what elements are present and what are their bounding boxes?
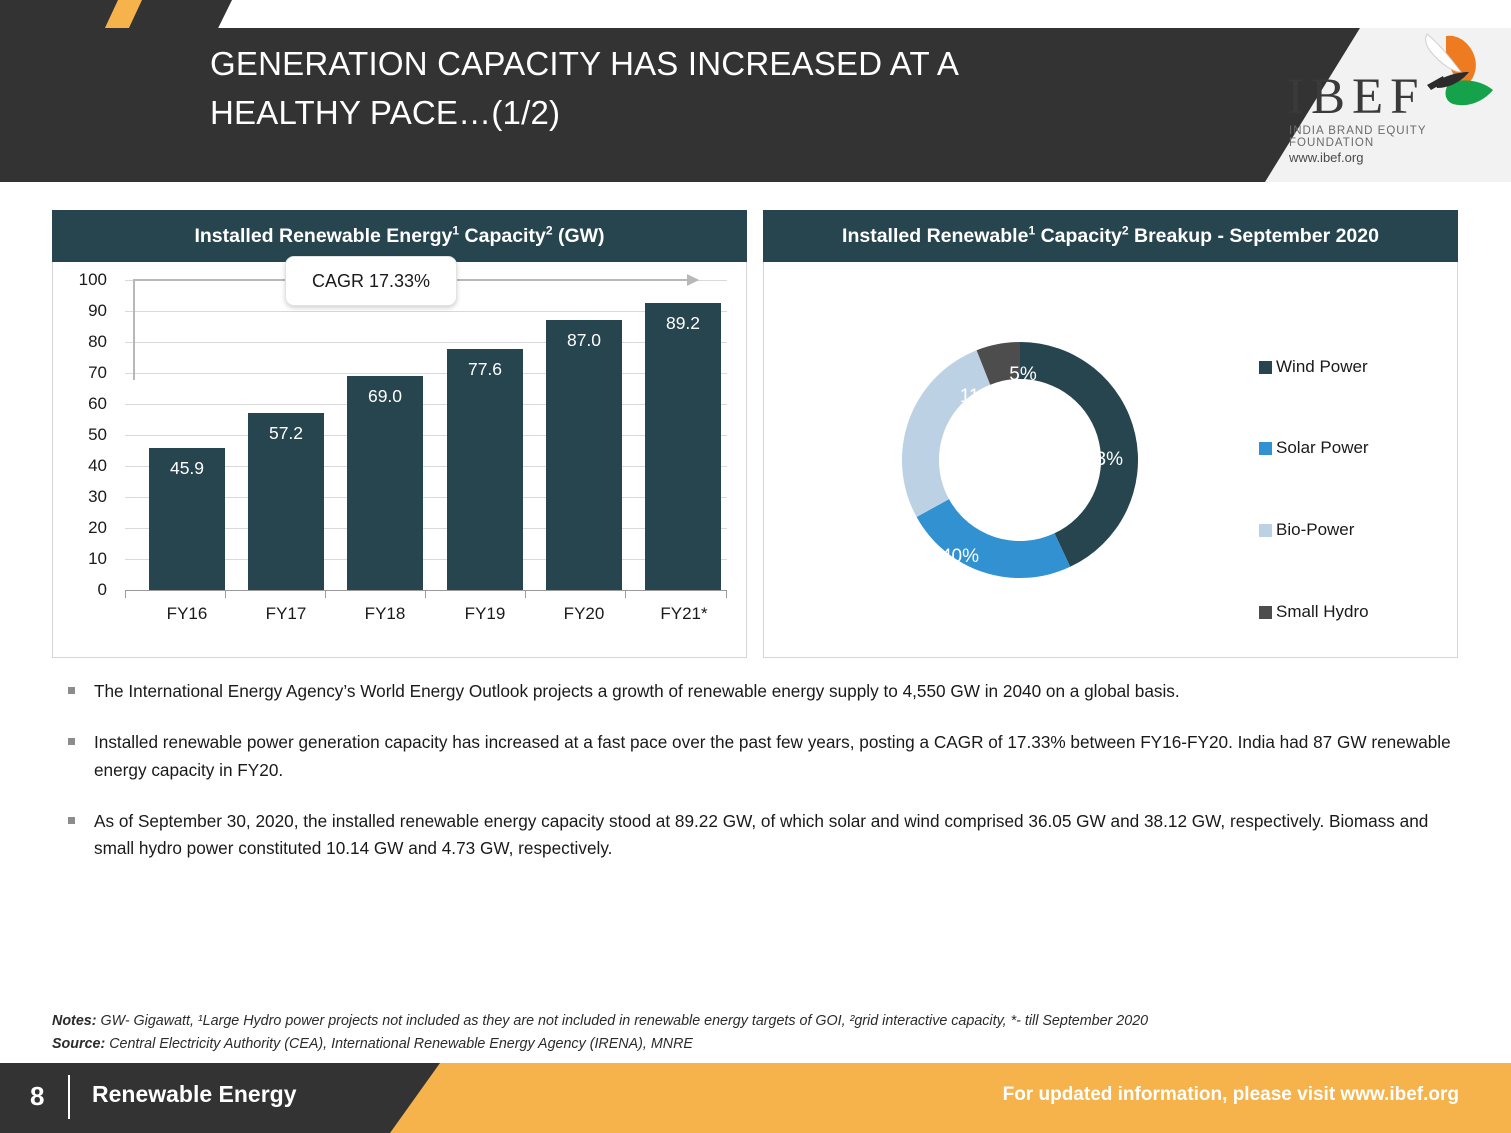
- y-tick-60: 60: [65, 394, 107, 414]
- donut-chart-body: 43% 40% 11% 5% Wind Power Solar Power Bi…: [763, 262, 1458, 658]
- legend-item-bio-power[interactable]: Bio-Power: [1259, 520, 1354, 540]
- y-tick-50: 50: [65, 425, 107, 445]
- bar-value-fy19: 77.6: [447, 359, 523, 380]
- x-tick-1: [225, 591, 226, 598]
- gridline-70: [125, 373, 727, 374]
- y-tick-30: 30: [65, 487, 107, 507]
- bar-fy21[interactable]: [645, 303, 721, 590]
- donut-chart: 43% 40% 11% 5%: [860, 300, 1180, 620]
- legend-swatch-solar-icon: [1259, 442, 1272, 455]
- bar-fy19[interactable]: [447, 349, 523, 590]
- legend-label-solar: Solar Power: [1276, 438, 1369, 458]
- source-line: Source: Central Electricity Authority (C…: [52, 1033, 1472, 1056]
- legend-swatch-bio-icon: [1259, 524, 1272, 537]
- legend-label-bio: Bio-Power: [1276, 520, 1354, 540]
- gridline-80: [125, 342, 727, 343]
- bar-value-fy17: 57.2: [248, 423, 324, 444]
- bar-chart-title: Installed Renewable Energy1 Capacity2 (G…: [194, 225, 604, 248]
- bar-value-fy18: 69.0: [347, 386, 423, 407]
- notes-block: Notes: GW- Gigawatt, ¹Large Hydro power …: [52, 1010, 1472, 1056]
- x-label-fy17: FY17: [266, 604, 307, 624]
- donut-slice-solar: [917, 499, 1071, 578]
- legend-label-small-hydro: Small Hydro: [1276, 602, 1369, 622]
- y-tick-70: 70: [65, 363, 107, 383]
- page-number: 8: [30, 1081, 44, 1112]
- y-tick-90: 90: [65, 301, 107, 321]
- x-tick-2: [325, 591, 326, 598]
- donut-label-small-hydro: 5%: [1009, 364, 1036, 386]
- gridline-50: [125, 435, 727, 436]
- bar-value-fy20: 87.0: [546, 330, 622, 351]
- notes-label: Notes:: [52, 1013, 96, 1029]
- legend-label-wind: Wind Power: [1276, 357, 1368, 377]
- donut-chart-panel-header: Installed Renewable1 Capacity2 Breakup -…: [763, 210, 1458, 262]
- source-label: Source:: [52, 1036, 105, 1052]
- notes-text: GW- Gigawatt, ¹Large Hydro power project…: [96, 1013, 1148, 1029]
- slide-footer: 8 Renewable Energy For updated informati…: [0, 1063, 1511, 1133]
- legend-swatch-wind-icon: [1259, 361, 1272, 374]
- cagr-leader-line: [133, 280, 135, 380]
- bar-chart-panel-header: Installed Renewable Energy1 Capacity2 (G…: [52, 210, 747, 262]
- footer-section-title: Renewable Energy: [92, 1081, 297, 1108]
- cagr-annotation: CAGR 17.33%: [285, 256, 457, 306]
- y-tick-20: 20: [65, 518, 107, 538]
- x-label-fy16: FY16: [167, 604, 208, 624]
- legend-item-small-hydro[interactable]: Small Hydro: [1259, 602, 1369, 622]
- list-item: The International Energy Agency’s World …: [62, 678, 1462, 706]
- x-label-fy20: FY20: [564, 604, 605, 624]
- bar-fy20[interactable]: [546, 320, 622, 590]
- source-text: Central Electricity Authority (CEA), Int…: [105, 1036, 693, 1052]
- ibef-tagline: INDIA BRAND EQUITY FOUNDATION: [1289, 125, 1503, 149]
- donut-slice-bio: [902, 350, 990, 517]
- ibef-logo: IBEF INDIA BRAND EQUITY FOUNDATION www.i…: [1283, 30, 1503, 178]
- notes-line: Notes: GW- Gigawatt, ¹Large Hydro power …: [52, 1010, 1472, 1033]
- y-tick-100: 100: [65, 270, 107, 290]
- bar-chart-body: 100 90 80 70 60 50 40 30 20 10 0 C: [52, 262, 747, 658]
- x-tick-3: [425, 591, 426, 598]
- y-tick-0: 0: [65, 580, 107, 600]
- donut-label-bio: 11%: [960, 386, 997, 408]
- page-title: GENERATION CAPACITY HAS INCREASED AT A H…: [210, 40, 1110, 138]
- x-tick-4: [525, 591, 526, 598]
- x-axis-line: [125, 590, 727, 591]
- list-item: Installed renewable power generation cap…: [62, 729, 1462, 785]
- donut-label-solar: 40%: [941, 546, 979, 568]
- x-tick-6: [726, 591, 727, 598]
- bar-value-fy16: 45.9: [149, 458, 225, 479]
- list-item: As of September 30, 2020, the installed …: [62, 808, 1462, 864]
- bar-chart-plot: 100 90 80 70 60 50 40 30 20 10 0 C: [53, 262, 746, 657]
- gridline-60: [125, 404, 727, 405]
- x-label-fy21: FY21*: [660, 604, 707, 624]
- y-tick-10: 10: [65, 549, 107, 569]
- x-tick-5: [625, 591, 626, 598]
- donut-chart-title: Installed Renewable1 Capacity2 Breakup -…: [842, 225, 1379, 248]
- legend-item-solar-power[interactable]: Solar Power: [1259, 438, 1369, 458]
- page-title-line2: HEALTHY PACE…(1/2): [210, 89, 1110, 138]
- donut-chart-panel: Installed Renewable1 Capacity2 Breakup -…: [763, 210, 1458, 658]
- legend-item-wind-power[interactable]: Wind Power: [1259, 357, 1368, 377]
- x-label-fy19: FY19: [465, 604, 506, 624]
- donut-label-wind: 43%: [1085, 449, 1123, 471]
- legend-swatch-small-hydro-icon: [1259, 606, 1272, 619]
- donut-legend: Wind Power Solar Power Bio-Power Small H…: [1259, 357, 1449, 637]
- y-tick-40: 40: [65, 456, 107, 476]
- ibef-url: www.ibef.org: [1289, 150, 1363, 165]
- bar-chart-panel: Installed Renewable Energy1 Capacity2 (G…: [52, 210, 747, 658]
- x-label-fy18: FY18: [365, 604, 406, 624]
- x-tick-0: [125, 591, 126, 598]
- footer-update-note: For updated information, please visit ww…: [1003, 1084, 1459, 1106]
- page-title-line1: GENERATION CAPACITY HAS INCREASED AT A: [210, 40, 1110, 89]
- gridline-90: [125, 311, 727, 312]
- bar-value-fy21: 89.2: [645, 313, 721, 334]
- bullet-list: The International Energy Agency’s World …: [62, 678, 1462, 886]
- bar-fy18[interactable]: [347, 376, 423, 590]
- footer-divider: [68, 1075, 70, 1119]
- ibef-wordmark: IBEF: [1287, 68, 1426, 126]
- slide-header: GENERATION CAPACITY HAS INCREASED AT A H…: [0, 0, 1511, 182]
- y-tick-80: 80: [65, 332, 107, 352]
